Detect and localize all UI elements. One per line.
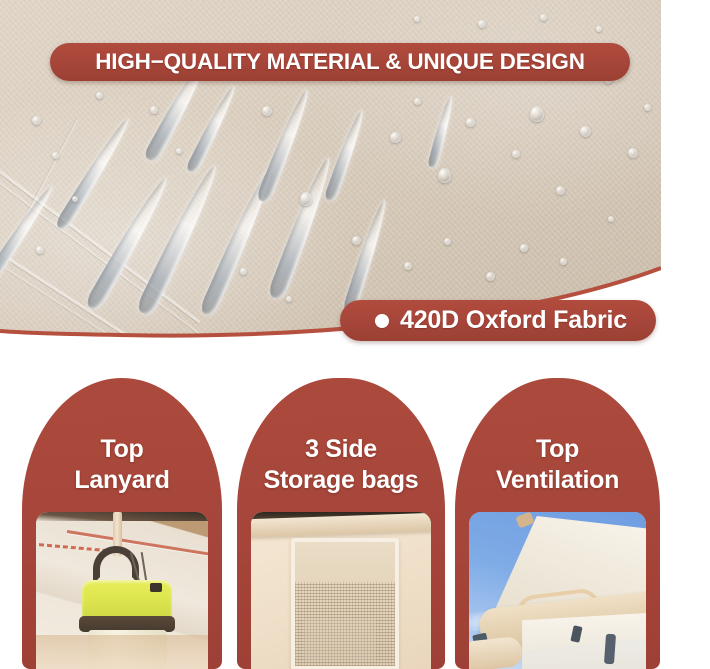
tent-floor <box>36 635 208 669</box>
feature-card-top-ventilation[interactable]: Top Ventilation <box>455 378 660 669</box>
water-droplet <box>150 106 158 114</box>
water-droplet <box>580 126 591 137</box>
water-droplet <box>466 118 475 127</box>
lantern-switch <box>150 583 162 592</box>
water-droplet <box>438 168 451 183</box>
feature-card-title-line2: Ventilation <box>461 465 654 496</box>
water-droplet <box>628 148 638 158</box>
water-droplet <box>240 268 247 275</box>
water-droplet <box>390 132 401 143</box>
water-droplet <box>608 216 614 222</box>
feature-card-title-line2: Storage bags <box>243 465 439 496</box>
feature-card-title-line2: Lanyard <box>28 465 216 496</box>
feature-card-title: Top Lanyard <box>22 434 222 496</box>
product-feature-infographic: HIGH−QUALITY MATERIAL & UNIQUE DESIGN 42… <box>0 0 710 669</box>
water-droplet <box>644 104 651 111</box>
water-droplet <box>414 16 420 22</box>
water-droplet <box>96 92 103 99</box>
feature-card-title-line1: Top <box>28 434 216 465</box>
feature-card-photo-lanyard <box>36 512 208 669</box>
feature-cards-row: Top Lanyard 3 Side <box>0 360 710 669</box>
water-droplet <box>52 152 59 159</box>
feature-card-photo-ventilation <box>469 512 646 669</box>
water-droplet <box>512 150 520 158</box>
feature-card-title: 3 Side Storage bags <box>237 434 445 496</box>
water-droplet <box>32 116 41 125</box>
water-droplet <box>530 106 544 122</box>
water-droplet <box>262 106 272 116</box>
water-droplet <box>540 14 547 21</box>
water-droplet <box>560 258 567 265</box>
water-droplet <box>286 296 292 302</box>
tent-pole <box>469 636 523 669</box>
water-droplet <box>176 148 182 154</box>
water-droplet <box>36 246 44 254</box>
water-droplet <box>404 262 412 270</box>
water-droplet <box>352 236 361 245</box>
water-droplet <box>486 272 495 281</box>
water-droplet <box>72 196 78 202</box>
feature-card-top-lanyard[interactable]: Top Lanyard <box>22 378 222 669</box>
feature-card-photo-storage <box>251 512 431 669</box>
feature-card-side-storage-bags[interactable]: 3 Side Storage bags <box>237 378 445 669</box>
water-droplet <box>520 244 528 252</box>
water-droplet <box>556 186 565 195</box>
water-droplet <box>596 26 602 32</box>
water-droplet <box>414 98 421 105</box>
tent-side-wall <box>522 611 646 669</box>
water-droplet <box>444 238 451 245</box>
feature-card-title-line1: Top <box>461 434 654 465</box>
headline-banner: HIGH−QUALITY MATERIAL & UNIQUE DESIGN <box>50 43 630 81</box>
headline-banner-text: HIGH−QUALITY MATERIAL & UNIQUE DESIGN <box>95 49 585 75</box>
feature-card-title: Top Ventilation <box>455 434 660 496</box>
water-droplet <box>478 20 486 28</box>
fabric-spec-badge: 420D Oxford Fabric <box>340 300 656 341</box>
stored-item <box>304 619 376 660</box>
water-droplet <box>300 192 312 206</box>
mesh-storage-pocket <box>291 538 399 669</box>
bullet-dot-icon <box>375 314 389 328</box>
fabric-spec-badge-text: 420D Oxford Fabric <box>400 306 627 335</box>
feature-card-title-line1: 3 Side <box>243 434 439 465</box>
